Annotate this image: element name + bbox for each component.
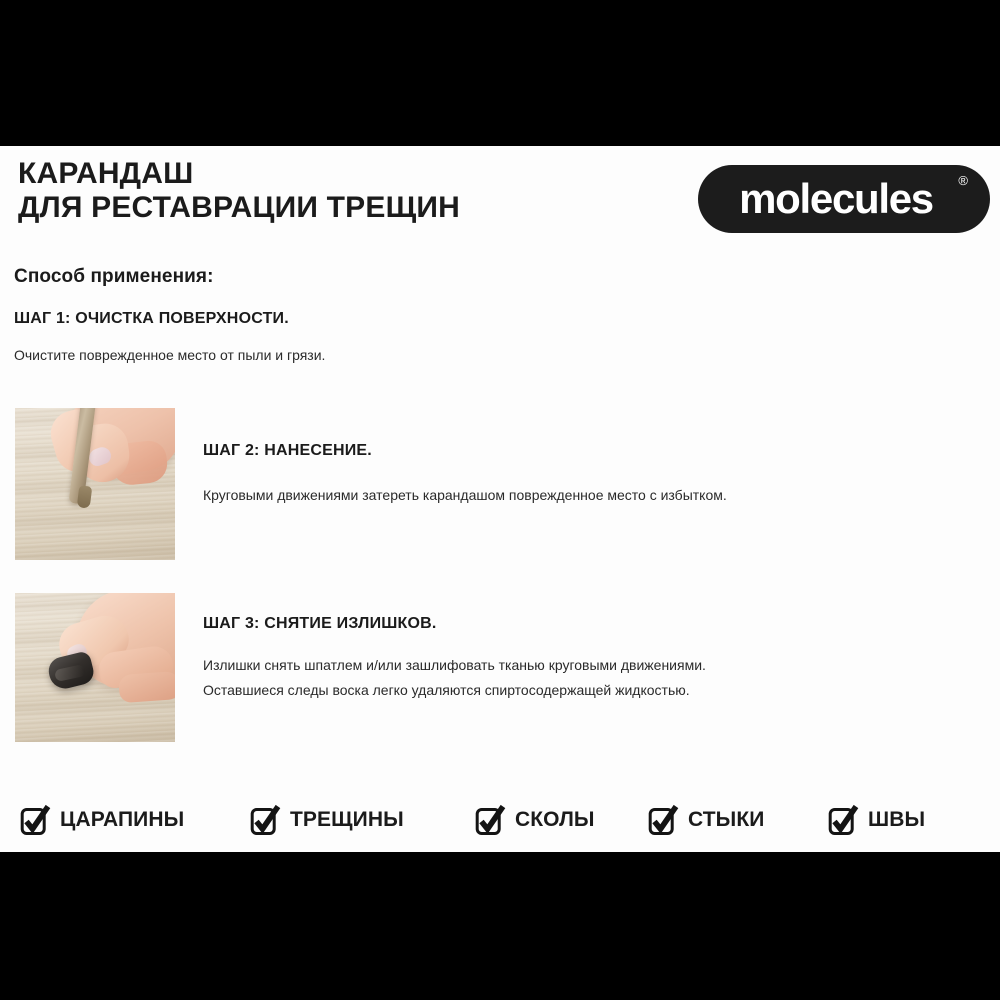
step-2-body: Круговыми движениями затереть карандашом… — [203, 483, 963, 508]
damage-type-item[interactable]: ЦАРАПИНЫ — [20, 798, 184, 842]
step-1-body: Очистите поврежденное место от пыли и гр… — [14, 345, 325, 365]
checkbox-checked-icon[interactable] — [648, 804, 679, 837]
checkbox-checked-icon[interactable] — [828, 804, 859, 837]
damage-type-label: СКОЛЫ — [515, 808, 595, 832]
brand-logo-wordmark: molecules — [698, 176, 990, 222]
step-3-body-line-2: Оставшиеся следы воска легко удаляются с… — [203, 678, 963, 703]
step-2-body-line-1: Круговыми движениями затереть карандашом… — [203, 483, 963, 508]
step-2-photo — [15, 408, 175, 560]
checkbox-checked-icon[interactable] — [475, 804, 506, 837]
damage-type-label: СТЫКИ — [688, 808, 764, 832]
step-1-title: ШАГ 1: ОЧИСТКА ПОВЕРХНОСТИ. — [14, 310, 289, 328]
checkbox-checked-icon[interactable] — [250, 804, 281, 837]
registered-trademark-icon: ® — [958, 174, 968, 187]
brand-logo: molecules ® — [698, 165, 990, 233]
step-3-photo — [15, 593, 175, 742]
step-3-title: ШАГ 3: СНЯТИЕ ИЗЛИШКОВ. — [203, 615, 437, 633]
damage-types-list: ЦАРАПИНЫ ТРЕЩИНЫ СКОЛЫ — [0, 798, 1000, 852]
product-instruction-card: КАРАНДАШ ДЛЯ РЕСТАВРАЦИИ ТРЕЩИН molecule… — [0, 0, 1000, 1000]
letterbox-bar-bottom — [0, 852, 1000, 1000]
damage-type-item[interactable]: СТЫКИ — [648, 798, 764, 842]
damage-type-label: ЦАРАПИНЫ — [60, 808, 184, 832]
damage-type-item[interactable]: ШВЫ — [828, 798, 925, 842]
step-3-body-line-1: Излишки снять шпатлем и/или зашлифовать … — [203, 653, 963, 678]
damage-type-label: ШВЫ — [868, 808, 925, 832]
damage-type-item[interactable]: ТРЕЩИНЫ — [250, 798, 404, 842]
checkbox-checked-icon[interactable] — [20, 804, 51, 837]
product-title-line-2: ДЛЯ РЕСТАВРАЦИИ ТРЕЩИН — [18, 191, 658, 225]
step-2-title: ШАГ 2: НАНЕСЕНИЕ. — [203, 442, 372, 460]
content-panel: КАРАНДАШ ДЛЯ РЕСТАВРАЦИИ ТРЕЩИН molecule… — [0, 146, 1000, 852]
damage-type-label: ТРЕЩИНЫ — [290, 808, 404, 832]
damage-type-item[interactable]: СКОЛЫ — [475, 798, 595, 842]
page-title: КАРАНДАШ ДЛЯ РЕСТАВРАЦИИ ТРЕЩИН — [18, 157, 658, 225]
instructions-heading: Способ применения: — [14, 266, 214, 288]
letterbox-bar-top — [0, 0, 1000, 146]
product-title-line-1: КАРАНДАШ — [18, 157, 658, 191]
step-3-body: Излишки снять шпатлем и/или зашлифовать … — [203, 653, 963, 703]
finger-shape — [118, 671, 175, 703]
